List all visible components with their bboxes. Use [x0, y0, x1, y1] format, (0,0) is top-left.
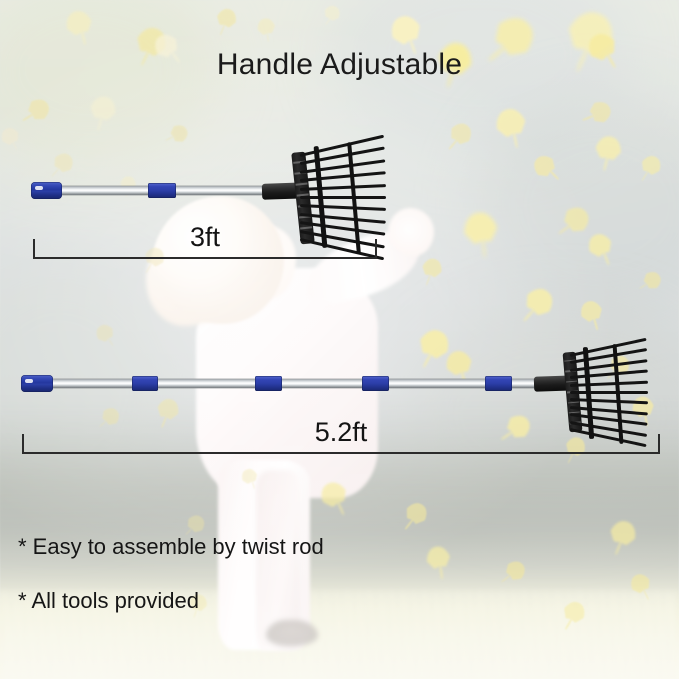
feature-item-2: * All tools provided: [18, 588, 538, 614]
product-infographic: Handle Adjustable 3ft: [0, 0, 679, 679]
rake-extended-twist-collar-1: [132, 376, 158, 391]
rake-collapsed-grip-cap: [31, 182, 62, 199]
rake-collapsed-twist-collar-1: [148, 183, 176, 198]
feature-item-1: * Easy to assemble by twist rod: [18, 534, 538, 560]
measurement-3ft-label: 3ft: [33, 222, 377, 253]
rake-tine: [570, 391, 648, 394]
ginkgo-leaf-icon: [592, 134, 623, 171]
rake-extended-twist-collar-2: [255, 376, 282, 391]
ginkgo-leaf-icon: [461, 210, 502, 258]
child-hand: [388, 208, 434, 256]
measurement-3ft: 3ft: [33, 237, 377, 259]
measurement-52ft-label: 5.2ft: [22, 417, 660, 448]
measurement-52ft: 5.2ft: [22, 432, 660, 454]
child-hair: [152, 196, 284, 324]
measurement-3ft-bar: [33, 257, 377, 259]
feature-list: * Easy to assemble by twist rod * All to…: [18, 534, 538, 642]
rake-extended-grip-cap: [21, 375, 53, 392]
rake-extended-pole: [22, 379, 552, 388]
rake-extended-twist-collar-4: [485, 376, 512, 391]
measurement-52ft-bar: [22, 452, 660, 454]
page-title: Handle Adjustable: [0, 48, 679, 82]
rake-extended-twist-collar-3: [362, 376, 389, 391]
rake-tine: [300, 196, 386, 199]
